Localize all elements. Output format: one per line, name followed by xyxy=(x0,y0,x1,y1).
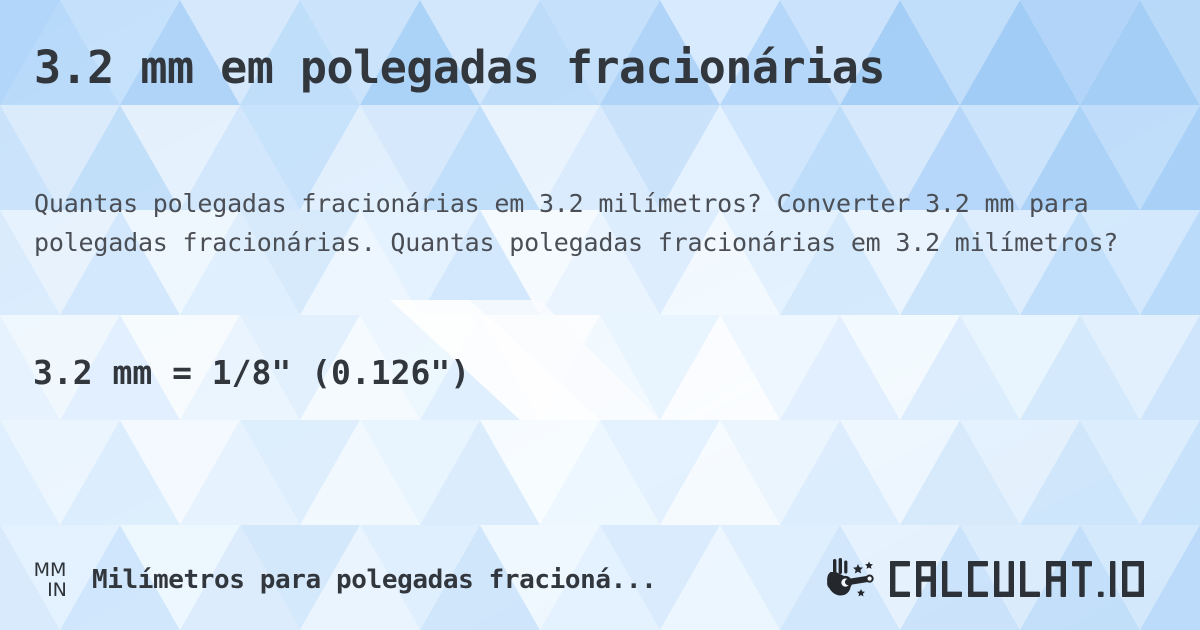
intro-paragraph: Quantas polegadas fracionárias em 3.2 mi… xyxy=(34,184,1174,262)
share-card: 3.2 mm em polegadas fracionárias Quantas… xyxy=(0,0,1200,630)
brand-logo[interactable]: CALCULAT.IO xyxy=(824,558,1174,602)
card-content: 3.2 mm em polegadas fracionárias Quantas… xyxy=(0,0,1200,630)
unit-mark-top-label: MM xyxy=(34,560,67,580)
magic-wand-hand-icon xyxy=(824,558,882,602)
brand-wordmark: CALCULAT.IO xyxy=(888,559,1174,601)
page-title: 3.2 mm em polegadas fracionárias xyxy=(34,40,1164,96)
unit-mark-bottom-label: IN xyxy=(47,580,67,600)
unit-mark-mm-in: MM IN xyxy=(26,560,80,600)
converter-name: Milímetros para polegadas fracioná... xyxy=(92,563,824,597)
footer: MM IN Milímetros para polegadas fracioná… xyxy=(0,546,1200,614)
conversion-result: 3.2 mm = 1/8" (0.126") xyxy=(33,352,470,394)
